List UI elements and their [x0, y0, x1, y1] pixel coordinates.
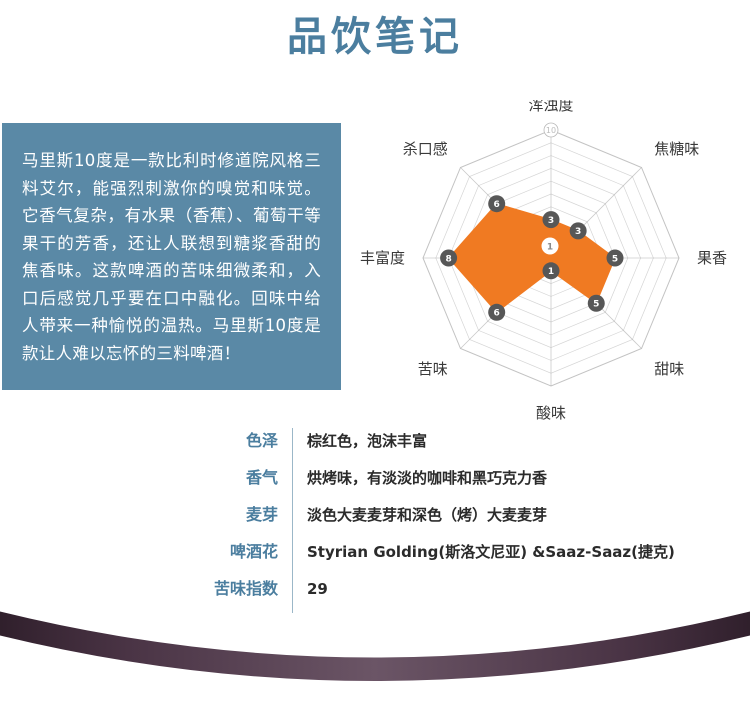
radar-value-badge: 3	[543, 211, 560, 228]
radar-axis-label: 杀口感	[403, 140, 448, 158]
radar-value-badge: 3	[570, 222, 587, 239]
svg-text:3: 3	[575, 227, 581, 237]
radar-value-badge: 6	[488, 304, 505, 321]
spec-value: Styrian Golding(斯洛文尼亚) &Saaz-Saaz(捷克)	[293, 539, 675, 565]
spec-row: 香气烘烤味，有淡淡的咖啡和黑巧克力香	[196, 465, 716, 502]
radar-axis-label: 果香	[697, 249, 727, 267]
spec-row: 麦芽淡色大麦麦芽和深色（烤）大麦麦芽	[196, 502, 716, 539]
radar-value-badge: 5	[588, 295, 605, 312]
svg-text:10: 10	[546, 126, 556, 135]
spec-row: 啤酒花Styrian Golding(斯洛文尼亚) &Saaz-Saaz(捷克)	[196, 539, 716, 576]
radar-center-badge: 1	[542, 238, 559, 255]
swoosh-band	[0, 609, 750, 681]
radar-value-badge: 1	[543, 262, 560, 279]
spec-table: 色泽棕红色，泡沫丰富香气烘烤味，有淡淡的咖啡和黑巧克力香麦芽淡色大麦麦芽和深色（…	[196, 428, 716, 613]
page-title: 品饮笔记	[0, 12, 750, 62]
radar-axis-label: 焦糖味	[654, 140, 699, 158]
svg-text:5: 5	[593, 300, 599, 310]
page-root: 品饮笔记 马里斯10度是一款比利时修道院风格三料艾尔，能强烈刺激你的嗅觉和味觉。…	[0, 0, 750, 711]
radar-data-area	[449, 204, 615, 313]
svg-text:6: 6	[494, 309, 500, 319]
footer-swoosh	[0, 591, 750, 711]
spec-value: 淡色大麦麦芽和深色（烤）大麦麦芽	[293, 502, 547, 528]
radar-value-badge: 8	[440, 250, 457, 267]
description-text: 马里斯10度是一款比利时修道院风格三料艾尔，能强烈刺激你的嗅觉和味觉。它香气复杂…	[22, 147, 321, 367]
description-panel: 马里斯10度是一款比利时修道院风格三料艾尔，能强烈刺激你的嗅觉和味觉。它香气复杂…	[2, 123, 341, 390]
radar-axis-label: 甜味	[654, 360, 684, 378]
radar-axis-label: 酸味	[536, 404, 566, 422]
svg-text:8: 8	[445, 254, 451, 264]
radar-chart: 10133551686浑浊度焦糖味果香甜味酸味苦味丰富度杀口感	[360, 100, 746, 430]
spec-key: 啤酒花	[196, 539, 292, 565]
svg-text:5: 5	[612, 254, 618, 264]
spec-key: 香气	[196, 465, 292, 491]
radar-value-badge: 5	[607, 250, 624, 267]
spec-row: 色泽棕红色，泡沫丰富	[196, 428, 716, 465]
svg-text:6: 6	[494, 200, 500, 210]
spec-key: 麦芽	[196, 502, 292, 528]
spec-value: 棕红色，泡沫丰富	[293, 428, 427, 454]
svg-text:1: 1	[547, 242, 553, 252]
radar-max-tick: 10	[544, 123, 558, 137]
radar-axis-label: 浑浊度	[528, 100, 573, 114]
spec-key: 色泽	[196, 428, 292, 454]
svg-text:3: 3	[548, 216, 554, 226]
radar-axis-label: 丰富度	[360, 249, 405, 267]
radar-value-badge: 6	[488, 195, 505, 212]
svg-text:1: 1	[548, 267, 554, 277]
radar-chart-svg: 10133551686浑浊度焦糖味果香甜味酸味苦味丰富度杀口感	[360, 100, 746, 430]
radar-axis-label: 苦味	[418, 360, 448, 378]
spec-value: 烘烤味，有淡淡的咖啡和黑巧克力香	[293, 465, 547, 491]
